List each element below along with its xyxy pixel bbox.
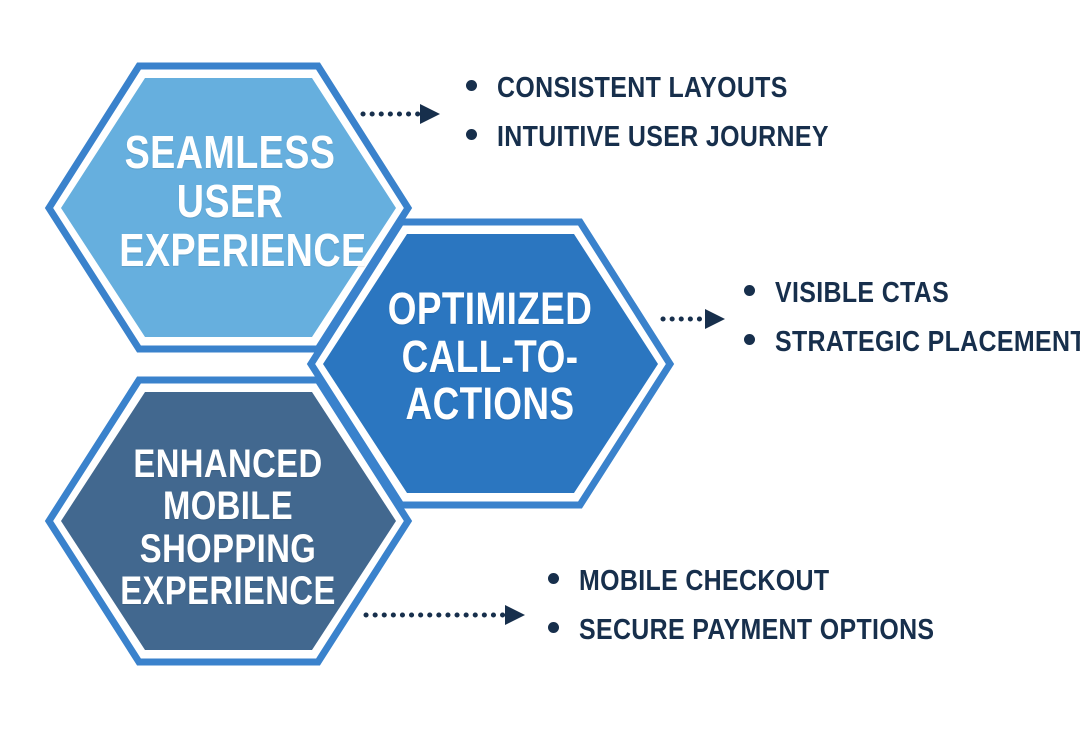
- bullet-dot-icon: [466, 129, 477, 140]
- arrow-2-connector: [663, 309, 725, 329]
- list-item[interactable]: STRATEGIC PLACEMENT: [744, 326, 1080, 359]
- list-item[interactable]: CONSISTENT LAYOUTS: [466, 72, 883, 105]
- hexagon-optimized-call-to-actions[interactable]: [311, 222, 670, 505]
- bullet-label: SECURE PAYMENT OPTIONS: [579, 614, 934, 647]
- bullet-group-optimized-call-to-actions: VISIBLE CTAS STRATEGIC PLACEMENT: [744, 277, 1080, 375]
- list-item[interactable]: INTUITIVE USER JOURNEY: [466, 121, 883, 154]
- arrow-1-connector: [363, 104, 440, 124]
- arrow-1-head-icon: [420, 104, 440, 124]
- hexagon-enhanced-mobile-shopping[interactable]: [49, 380, 408, 662]
- arrow-3-head-icon: [505, 605, 525, 625]
- list-item[interactable]: VISIBLE CTAS: [744, 277, 1080, 310]
- bullet-group-seamless-user-experience: CONSISTENT LAYOUTS INTUITIVE USER JOURNE…: [466, 72, 883, 170]
- bullet-label: CONSISTENT LAYOUTS: [497, 72, 788, 105]
- hexagon-1-fill: [61, 78, 396, 337]
- arrow-3-connector: [366, 605, 525, 625]
- hexagon-seamless-user-experience[interactable]: [49, 66, 408, 349]
- hexagon-3-fill: [61, 392, 396, 650]
- diagram-canvas: SEAMLESS USER EXPERIENCE OPTIMIZED CALL-…: [0, 0, 1080, 741]
- bullet-group-enhanced-mobile-shopping: MOBILE CHECKOUT SECURE PAYMENT OPTIONS: [548, 565, 992, 663]
- hexagon-2-fill: [323, 234, 658, 493]
- bullet-dot-icon: [744, 285, 755, 296]
- bullet-dot-icon: [548, 573, 559, 584]
- bullet-dot-icon: [466, 80, 477, 91]
- bullet-label: INTUITIVE USER JOURNEY: [497, 121, 829, 154]
- bullet-label: VISIBLE CTAS: [775, 277, 949, 310]
- bullet-dot-icon: [548, 622, 559, 633]
- bullet-label: MOBILE CHECKOUT: [579, 565, 829, 598]
- bullet-label: STRATEGIC PLACEMENT: [775, 326, 1080, 359]
- list-item[interactable]: MOBILE CHECKOUT: [548, 565, 992, 598]
- arrow-2-head-icon: [705, 309, 725, 329]
- list-item[interactable]: SECURE PAYMENT OPTIONS: [548, 614, 992, 647]
- bullet-dot-icon: [744, 334, 755, 345]
